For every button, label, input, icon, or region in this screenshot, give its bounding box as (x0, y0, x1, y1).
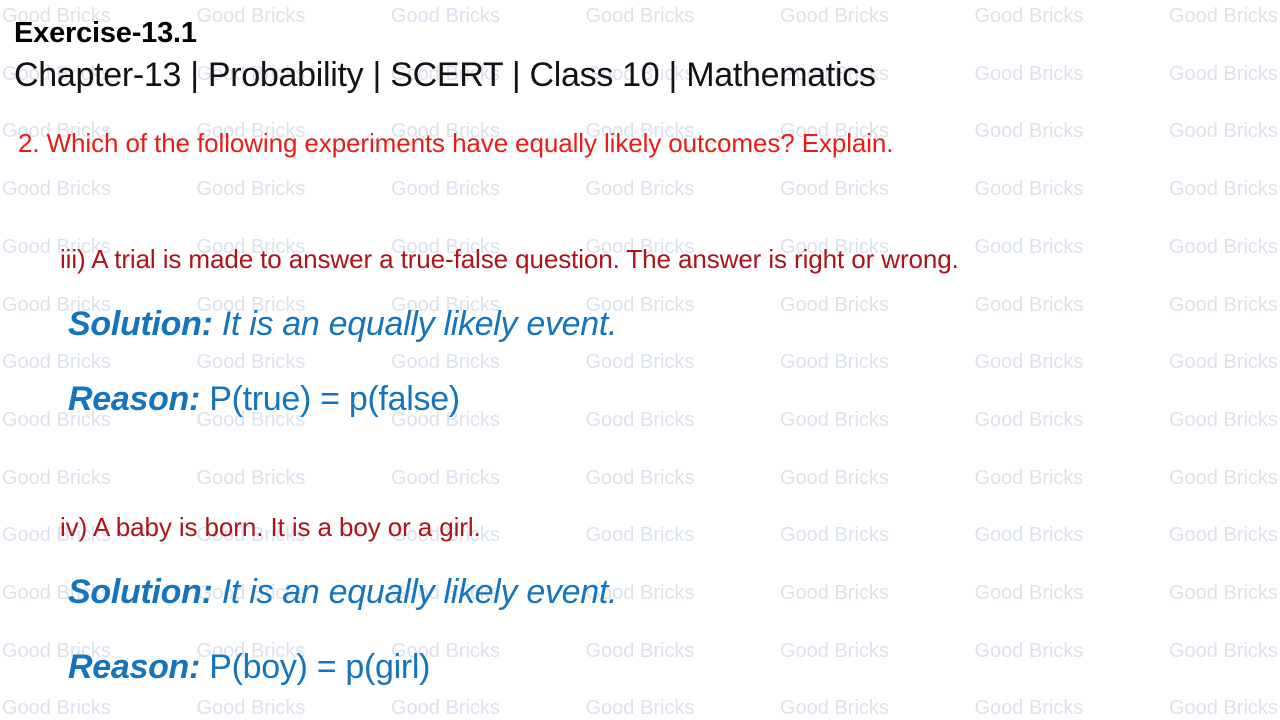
solution-label: Solution: (68, 305, 213, 343)
solution-label: Solution: (68, 573, 213, 611)
question-text: 2. Which of the following experiments ha… (18, 130, 893, 157)
slide-canvas: Good BricksGood BricksGood BricksGood Br… (0, 0, 1280, 720)
item-iv-reason: Reason: P(boy) = p(girl) (68, 650, 430, 686)
item-iv-solution: Solution: It is an equally likely event. (68, 575, 617, 611)
solution-value: It is an equally likely event. (222, 305, 617, 343)
solution-value: It is an equally likely event. (222, 573, 617, 611)
page-title: Exercise-13.1 (14, 18, 197, 48)
item-iv-text: iv) A baby is born. It is a boy or a gir… (60, 514, 481, 541)
reason-label: Reason: (68, 380, 200, 418)
item-iii-solution: Solution: It is an equally likely event. (68, 307, 617, 343)
reason-value: P(true) = p(false) (209, 380, 460, 418)
reason-label: Reason: (68, 648, 200, 686)
item-iii-reason: Reason: P(true) = p(false) (68, 382, 460, 418)
page-subtitle: Chapter-13 | Probability | SCERT | Class… (14, 58, 876, 94)
slide-content: Exercise-13.1 Chapter-13 | Probability |… (0, 0, 1280, 720)
reason-value: P(boy) = p(girl) (209, 648, 430, 686)
item-iii-text: iii) A trial is made to answer a true-fa… (60, 246, 959, 273)
